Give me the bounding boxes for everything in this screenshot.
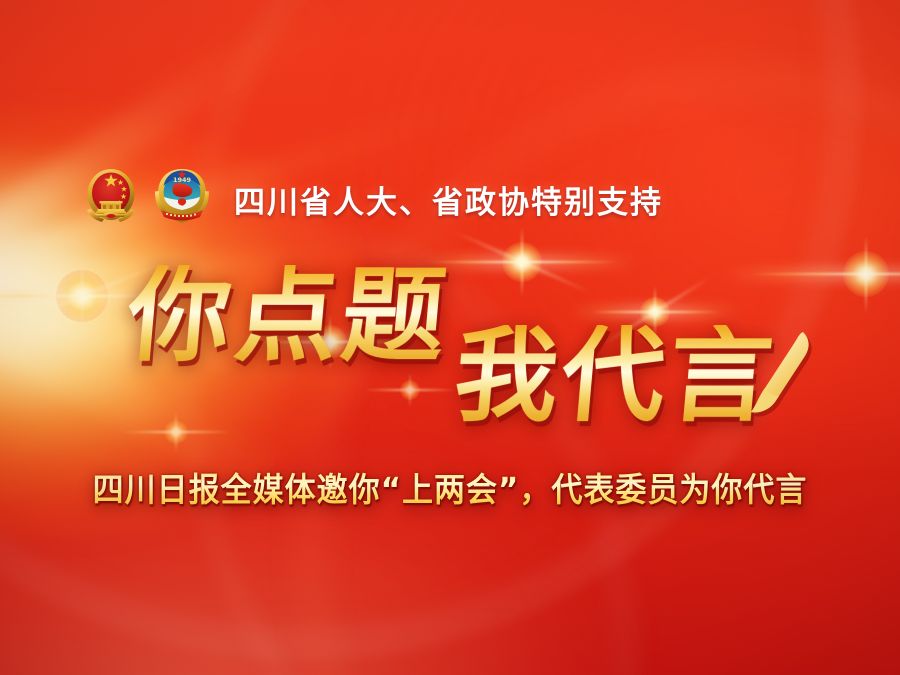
subtitle-text: 四川日报全媒体邀你“上两会”，代表委员为你代言 xyxy=(0,463,900,511)
cppcc-emblem-icon: 1949 xyxy=(154,166,210,232)
national-emblem-of-china-icon xyxy=(84,166,138,232)
header-title: 四川省人大、省政协特别支持 xyxy=(234,177,663,222)
poster-canvas: 1949 四川省人大、省政协特别支持 xyxy=(0,0,900,675)
header-row: 1949 四川省人大、省政协特别支持 xyxy=(84,166,663,232)
svg-text:1949: 1949 xyxy=(173,176,192,184)
